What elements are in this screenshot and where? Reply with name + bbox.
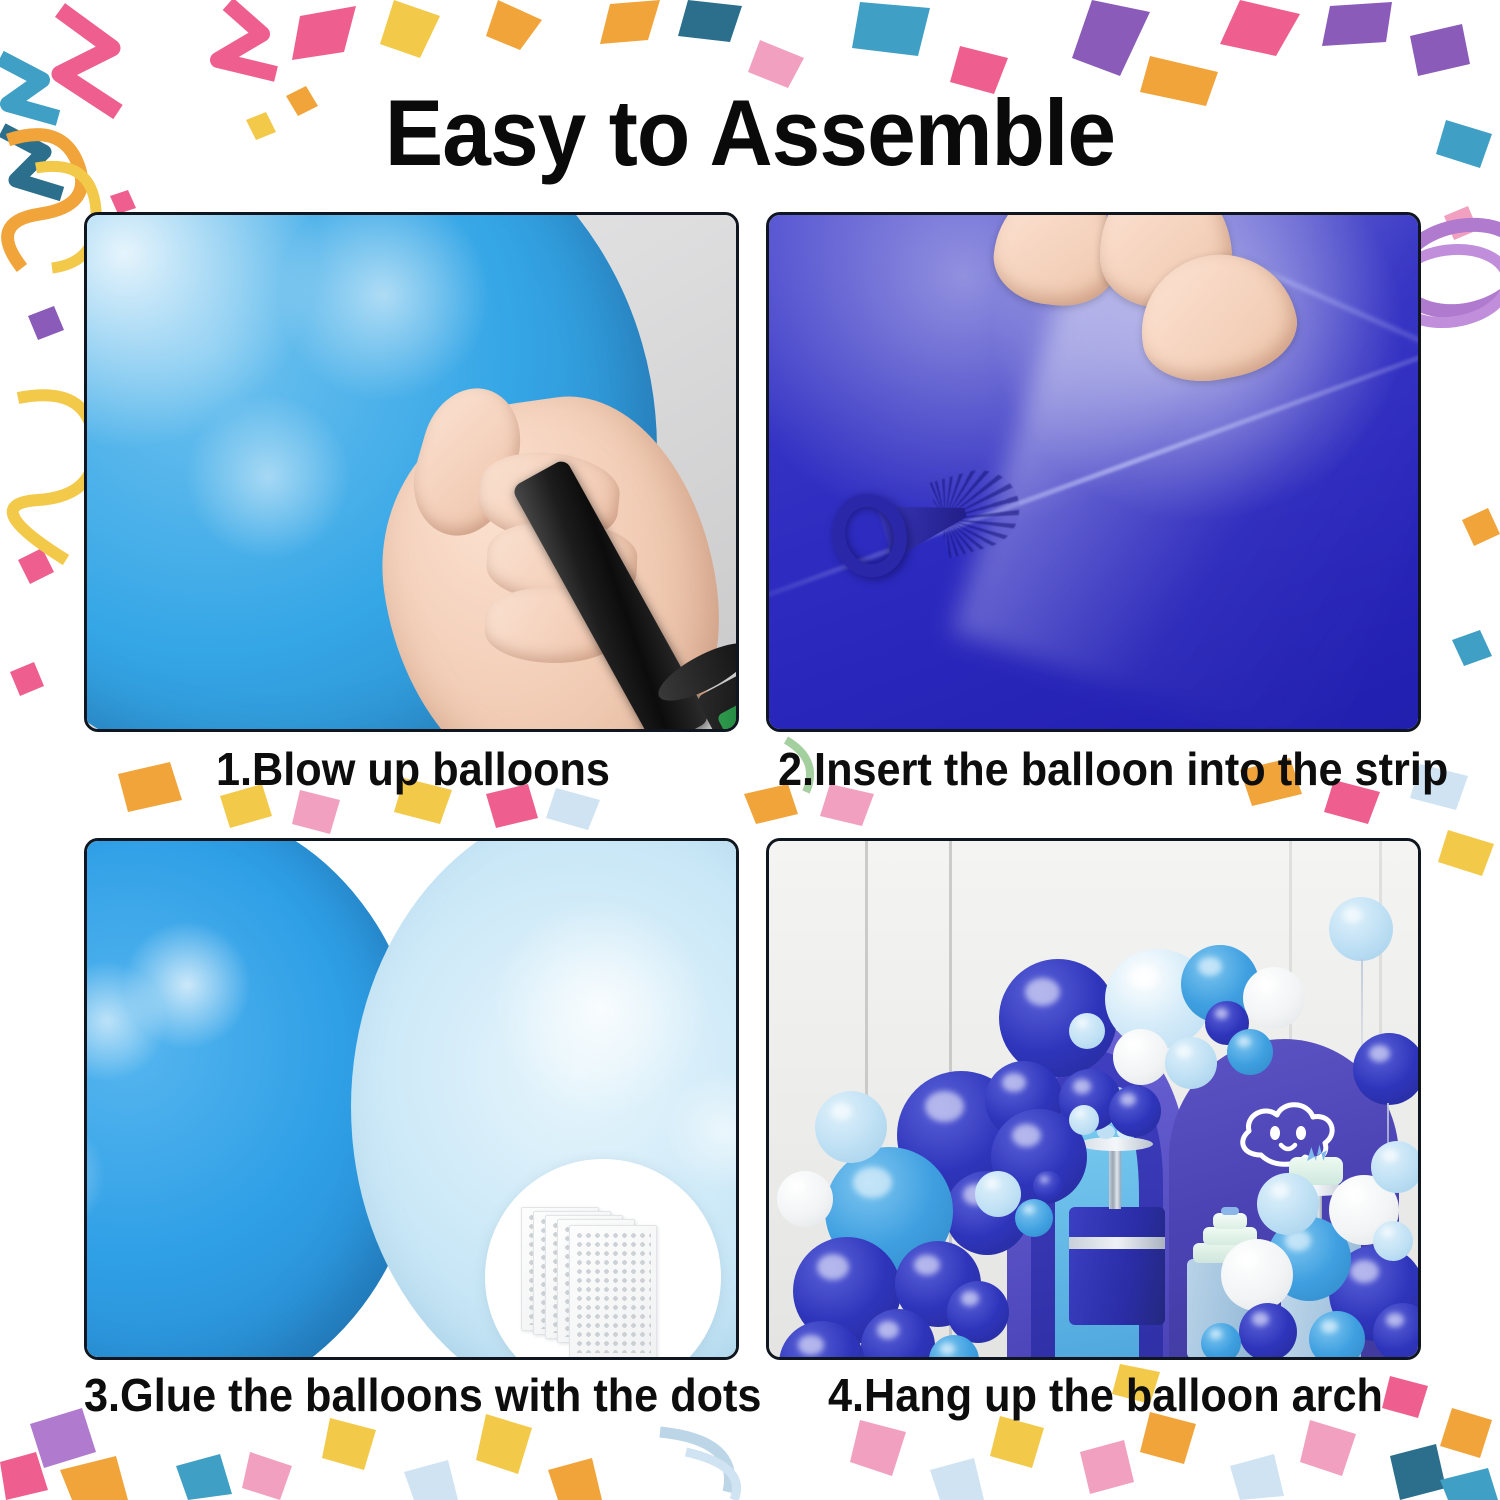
balloon-light-blue (975, 1171, 1021, 1217)
balloon-royal-blue (1373, 1303, 1421, 1360)
balloon-light-blue (1371, 1141, 1421, 1193)
balloon-light-blue (1257, 1173, 1319, 1235)
glue-dot-sheet-icon (569, 1225, 657, 1359)
step-4-caption: 4.Hang up the balloon arch (828, 1368, 1383, 1422)
step-3-image (84, 838, 739, 1360)
balloon-royal-blue (947, 1281, 1009, 1343)
balloon-white (1113, 1029, 1169, 1085)
balloon-royal-blue (1033, 1171, 1063, 1201)
balloon-floating-light (1329, 897, 1393, 961)
pedestal-band (1069, 1237, 1165, 1249)
balloon-mid-blue (1309, 1311, 1365, 1360)
pedestal-royal-blue (1069, 1207, 1165, 1325)
balloon-light-blue (1373, 1221, 1413, 1261)
balloon-white (1243, 967, 1305, 1029)
balloon-white (1221, 1239, 1293, 1311)
step-2-caption: 2.Insert the balloon into the strip (778, 742, 1448, 796)
balloon-light-blue (815, 1091, 887, 1163)
balloon-light-blue (1069, 1013, 1105, 1049)
balloon-light-blue (1165, 1037, 1217, 1089)
step-1-caption: 1.Blow up balloons (216, 742, 610, 796)
balloon-mid-blue (1227, 1029, 1273, 1075)
balloon-mid-blue (1015, 1199, 1053, 1237)
infographic-stage: Easy to Assemble 1.Blow up balloons 2.In… (0, 0, 1500, 1500)
balloon-white (777, 1171, 833, 1227)
step-4-image (766, 838, 1421, 1360)
balloon-royal-blue (1109, 1085, 1161, 1137)
balloon-mid-blue (1201, 1323, 1241, 1360)
step-3-caption: 3.Glue the balloons with the dots (84, 1368, 761, 1422)
balloon-light-blue (1069, 1105, 1099, 1135)
balloon-floating-royal (1353, 1033, 1421, 1105)
cake-stand-stem (1109, 1147, 1121, 1209)
step-1-image (84, 212, 739, 732)
step-2-image (766, 212, 1421, 732)
page-title: Easy to Assemble (53, 86, 1448, 180)
balloon-royal-blue (1239, 1303, 1297, 1360)
